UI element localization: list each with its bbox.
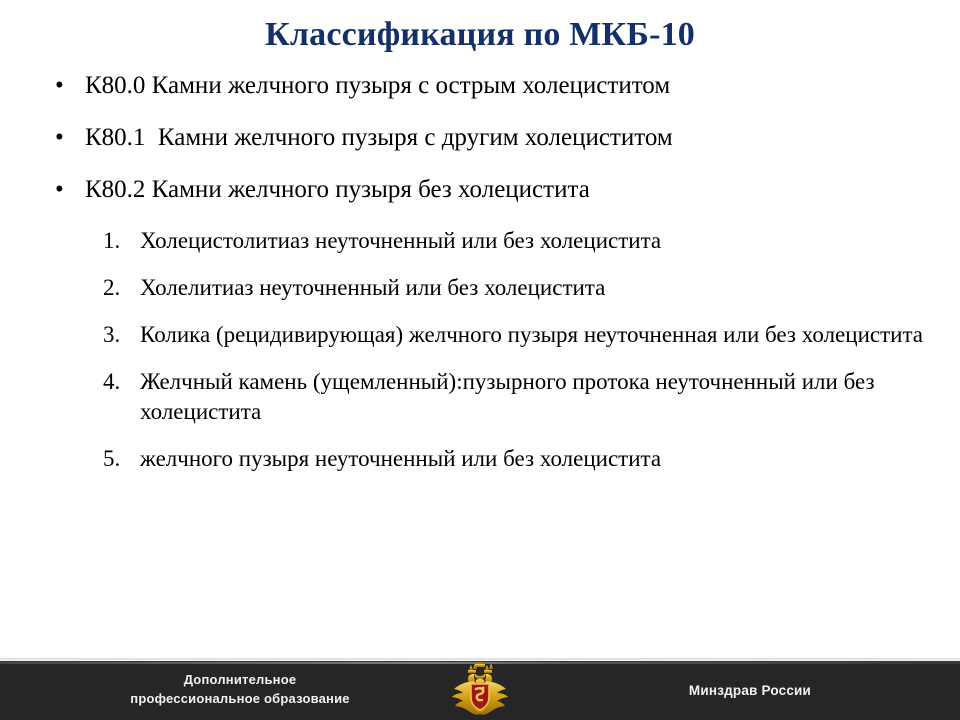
list-item: 3. Колика (рецидивирующая) желчного пузы…: [0, 320, 960, 350]
list-item-label: Холецистолитиаз неуточненный или без хол…: [140, 226, 935, 256]
list-item-label: К80.0 Камни желчного пузыря с острым хол…: [85, 70, 930, 102]
numbered-sublist: 1. Холецистолитиаз неуточненный или без …: [0, 226, 960, 474]
list-number-marker: 1.: [103, 226, 133, 256]
list-item: 2. Холелитиаз неуточненный или без холец…: [0, 273, 960, 303]
bullet-marker-icon: •: [55, 122, 64, 154]
slide-footer: Дополнительное профессиональное образова…: [0, 661, 960, 720]
list-item-label: Холелитиаз неуточненный или без холецист…: [140, 273, 935, 303]
footer-right-label: Минздрав России: [600, 682, 900, 700]
list-item-label: К80.1 Камни желчного пузыря с другим хол…: [85, 122, 930, 154]
list-item-label: желчного пузыря неуточненный или без хол…: [140, 444, 935, 474]
list-number-marker: 4.: [103, 367, 133, 397]
list-item: 1. Холецистолитиаз неуточненный или без …: [0, 226, 960, 256]
slide: Классификация по МКБ-10 • К80.0 Камни же…: [0, 0, 960, 720]
bullet-marker-icon: •: [55, 70, 64, 102]
list-item: • К80.0 Камни желчного пузыря с острым х…: [0, 70, 960, 102]
list-item: • К80.2 Камни желчного пузыря без холеци…: [0, 174, 960, 206]
footer-left-label: Дополнительное профессиональное образова…: [80, 670, 400, 708]
list-item: 5. желчного пузыря неуточненный или без …: [0, 444, 960, 474]
list-item: • К80.1 Камни желчного пузыря с другим х…: [0, 122, 960, 154]
footer-left-line-1: Дополнительное: [80, 670, 400, 689]
russian-double-headed-eagle-emblem-icon: [446, 661, 514, 720]
list-number-marker: 5.: [103, 444, 133, 474]
list-number-marker: 3.: [103, 320, 133, 350]
bullet-marker-icon: •: [55, 174, 64, 206]
list-number-marker: 2.: [103, 273, 133, 303]
list-item-label: К80.2 Камни желчного пузыря без холецист…: [85, 174, 930, 206]
list-item-label: Колика (рецидивирующая) желчного пузыря …: [140, 320, 935, 350]
slide-body: • К80.0 Камни желчного пузыря с острым х…: [0, 70, 960, 491]
page-title: Классификация по МКБ-10: [0, 14, 960, 56]
list-item: 4. Желчный камень (ущемленный):пузырного…: [0, 367, 960, 427]
footer-left-line-2: профессиональное образование: [80, 689, 400, 708]
list-item-label: Желчный камень (ущемленный):пузырного пр…: [140, 367, 935, 427]
